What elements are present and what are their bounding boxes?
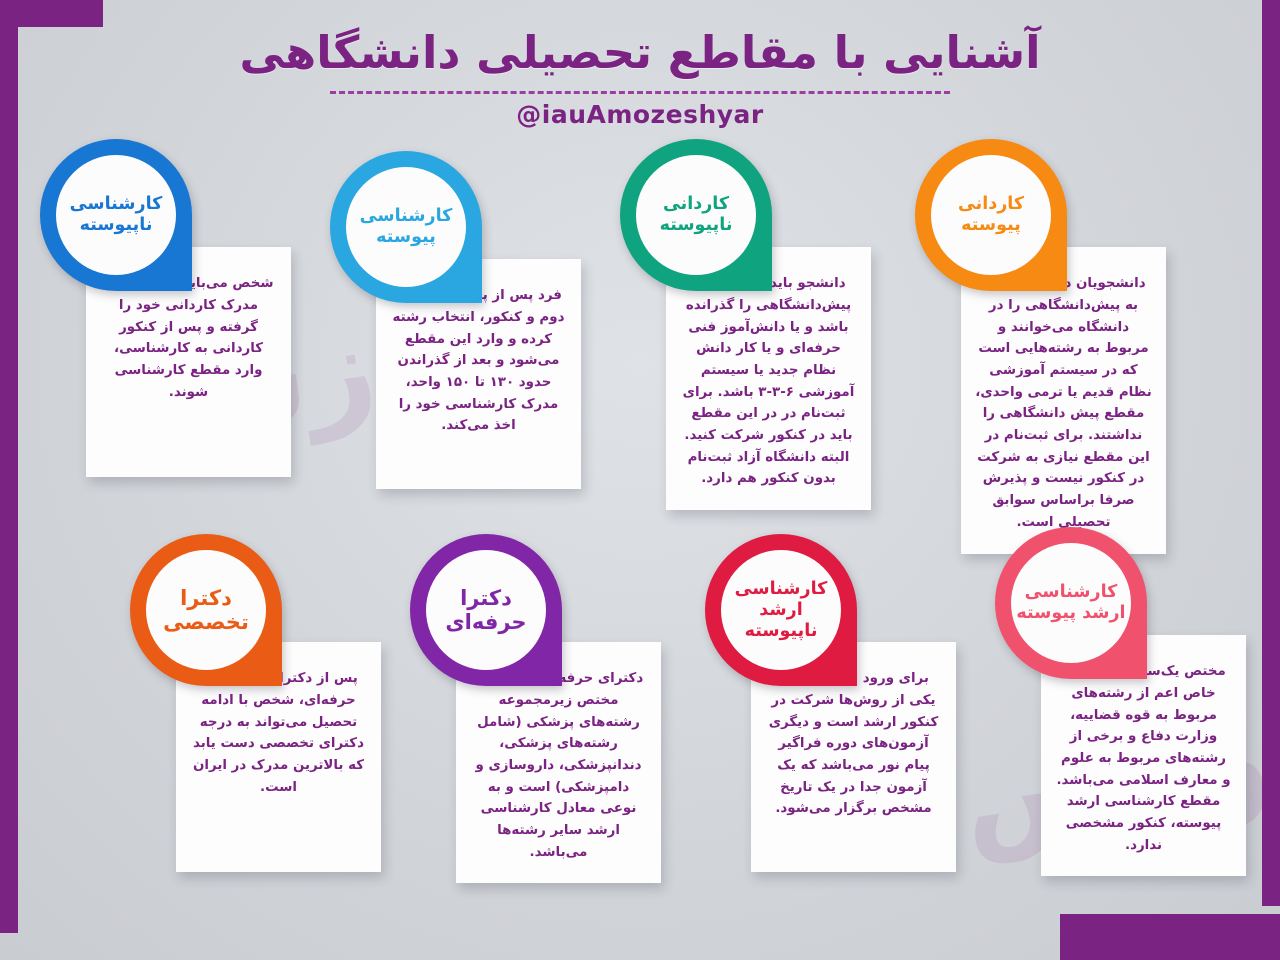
badge-title: دکترا حرفه‌ای [426, 586, 546, 635]
title-divider [330, 91, 950, 94]
page-title: آشنایی با مقاطع تحصیلی دانشگاهی [110, 26, 1170, 79]
badge-inner-circle: کارشناسی پیوسته [346, 167, 466, 287]
card-badge[interactable]: کاردانی ناپیوسته [620, 139, 772, 291]
card-badge[interactable]: دکترا حرفه‌ای [410, 534, 562, 686]
badge-title: کاردانی ناپیوسته [636, 194, 756, 236]
degree-card-kardani-napeyvaste: دانشجو باید حتما مقطع پیش‌دانشگاهی را گذ… [620, 139, 920, 519]
card-body-text: فرد پس از پایان متوسطه دوم و کنکور، انتخ… [390, 285, 567, 437]
badge-inner-circle: کارشناسی ارشد ناپیوسته [721, 550, 841, 670]
card-panel: دانشجویان دروس مربوط به پیش‌دانشگاهی را … [961, 247, 1166, 553]
badge-inner-circle: کارشناسی ارشد پیوسته [1011, 543, 1131, 663]
badge-inner-circle: کاردانی پیوسته [931, 155, 1051, 275]
badge-inner-circle: دکترا تخصصی [146, 550, 266, 670]
card-body-text: مختص یک‌سری رشته‌های خاص اعم از رشته‌های… [1055, 661, 1232, 856]
card-body-text: پس از دکترای عمومی یا حرفه‌ای، شخص با اد… [190, 668, 367, 798]
degree-card-arshad-napeyvaste: برای ورود به این دوره، یکی از روش‌ها شرک… [705, 534, 1005, 914]
badge-inner-circle: کارشناسی ناپیوسته [56, 155, 176, 275]
badge-title: کارشناسی ناپیوسته [56, 194, 176, 236]
card-body-text: دانشجو باید حتما مقطع پیش‌دانشگاهی را گذ… [680, 273, 857, 490]
degree-card-doktora-takhassosi: پس از دکترای عمومی یا حرفه‌ای، شخص با اد… [130, 534, 430, 914]
card-badge[interactable]: کاردانی پیوسته [915, 139, 1067, 291]
badge-inner-circle: کاردانی ناپیوسته [636, 155, 756, 275]
card-badge[interactable]: کارشناسی ارشد ناپیوسته [705, 534, 857, 686]
card-badge[interactable]: کارشناسی ارشد پیوسته [995, 527, 1147, 679]
page-header: آشنایی با مقاطع تحصیلی دانشگاهی @iauAmoz… [0, 0, 1280, 129]
corner-decoration-bottom-right [1060, 914, 1280, 960]
card-badge[interactable]: کارشناسی ناپیوسته [40, 139, 192, 291]
card-body-text: دکترای حرفه‌ای یا عمومی مختص زیرمجموعه ر… [470, 668, 647, 863]
badge-title: دکترا تخصصی [146, 586, 266, 635]
badge-inner-circle: دکترا حرفه‌ای [426, 550, 546, 670]
badge-title: کاردانی پیوسته [931, 194, 1051, 236]
cards-board: شخص می‌بایست ابتدا باید مدرک کاردانی خود… [0, 129, 1280, 909]
degree-card-doktora-herfei: دکترای حرفه‌ای یا عمومی مختص زیرمجموعه ر… [410, 534, 710, 914]
card-body-text: برای ورود به این دوره، یکی از روش‌ها شرک… [765, 668, 942, 820]
card-body-text: شخص می‌بایست ابتدا باید مدرک کاردانی خود… [100, 273, 277, 403]
badge-title: کارشناسی ارشد ناپیوسته [721, 579, 841, 642]
card-badge[interactable]: کارشناسی پیوسته [330, 151, 482, 303]
card-body-text: دانشجویان دروس مربوط به پیش‌دانشگاهی را … [975, 273, 1152, 533]
degree-card-karshenasi-peyvaste: فرد پس از پایان متوسطه دوم و کنکور، انتخ… [330, 151, 630, 531]
degree-card-karshenasi-napeyvaste: شخص می‌بایست ابتدا باید مدرک کاردانی خود… [40, 139, 340, 519]
degree-card-kardani-peyvaste: دانشجویان دروس مربوط به پیش‌دانشگاهی را … [915, 139, 1215, 519]
badge-title: کارشناسی پیوسته [346, 206, 466, 248]
social-handle: @iauAmozeshyar [0, 100, 1280, 129]
badge-title: کارشناسی ارشد پیوسته [1011, 582, 1131, 624]
card-badge[interactable]: دکترا تخصصی [130, 534, 282, 686]
degree-card-arshad-peyvaste: مختص یک‌سری رشته‌های خاص اعم از رشته‌های… [995, 527, 1280, 907]
